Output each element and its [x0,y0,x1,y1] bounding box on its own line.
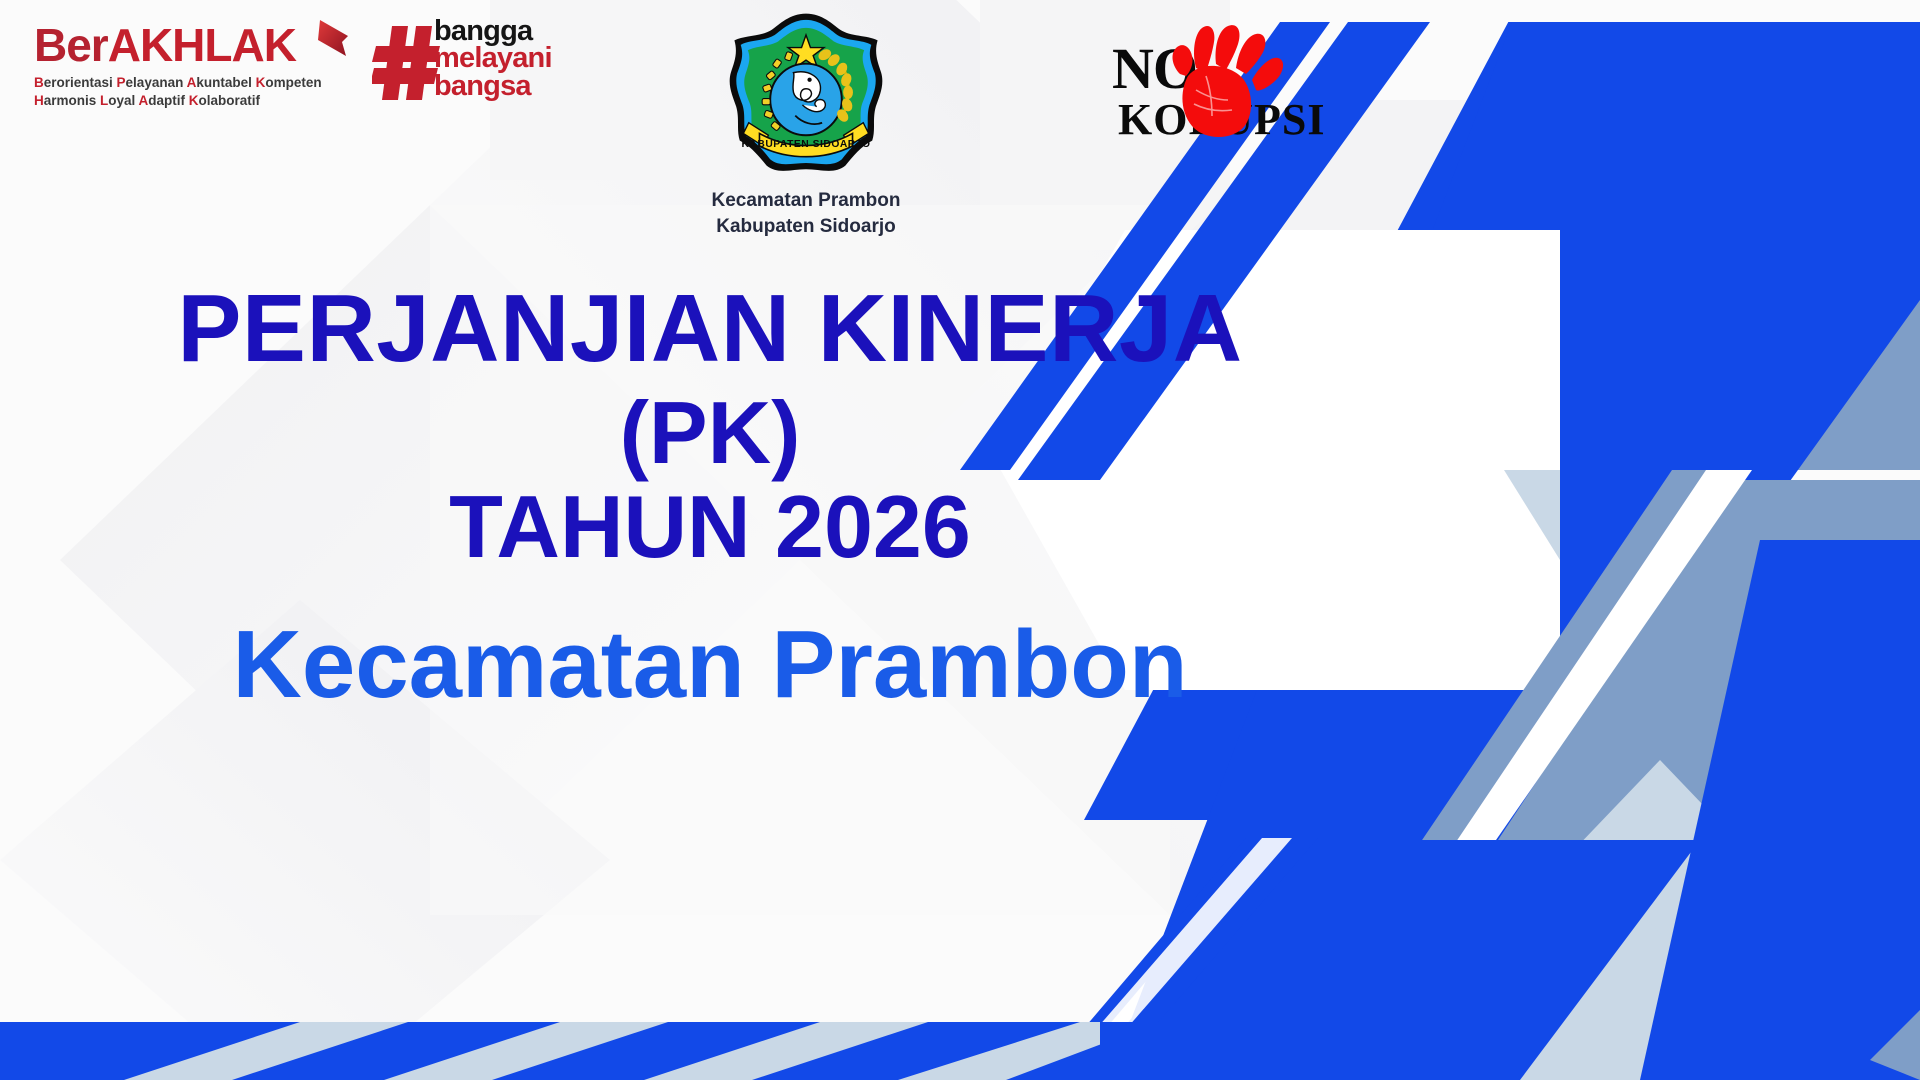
emblem-caption: Kecamatan Prambon Kabupaten Sidoarjo [696,188,916,240]
no-korupsi-logo: NO KORUPSI [1110,18,1310,130]
kabupaten-sidoarjo-emblem: KABUPATEN SIDOARJO [715,10,897,180]
presentation-slide: BerAKHLAK Berorientasi Pelayanan Akuntab… [0,0,1920,1080]
page-title: PERJANJIAN KINERJA [0,278,1420,380]
title-abbreviation: (PK) [0,384,1420,483]
berakhlak-prefix: Ber [34,19,108,71]
bangga-line3: bangsa [434,73,552,100]
bangga-wordmark: bangga melayani bangsa [434,18,552,100]
emblem-banner-text: KABUPATEN SIDOARJO [741,139,870,150]
title-subject: Kecamatan Prambon [0,611,1420,719]
emblem-caption-line2: Kabupaten Sidoarjo [696,214,916,240]
chevron-right-icon [312,16,358,62]
berakhlak-logo: BerAKHLAK Berorientasi Pelayanan Akuntab… [34,22,354,110]
red-handprint-icon [1162,18,1286,140]
berakhlak-wordmark: BerAKHLAK [34,22,354,68]
logo-header-row: BerAKHLAK Berorientasi Pelayanan Akuntab… [0,0,1920,270]
emblem-block: KABUPATEN SIDOARJO Kecamatan Prambon Kab… [696,10,916,240]
berakhlak-tagline-line1: Berorientasi Pelayanan Akuntabel Kompete… [34,74,354,92]
title-year: TAHUN 2026 [0,478,1420,577]
bangga-melayani-bangsa-logo: bangga melayani bangsa [372,18,592,110]
bangga-line1: bangga [434,18,552,45]
berakhlak-main: AKHLAK [108,19,296,71]
bangga-line2: melayani [434,45,552,72]
berakhlak-tagline: Berorientasi Pelayanan Akuntabel Kompete… [34,74,354,110]
hashtag-icon [372,24,440,102]
berakhlak-tagline-line2: Harmonis Loyal Adaptif Kolaboratif [34,92,354,110]
emblem-caption-line1: Kecamatan Prambon [696,188,916,214]
title-block: PERJANJIAN KINERJA (PK) TAHUN 2026 Kecam… [0,278,1420,718]
